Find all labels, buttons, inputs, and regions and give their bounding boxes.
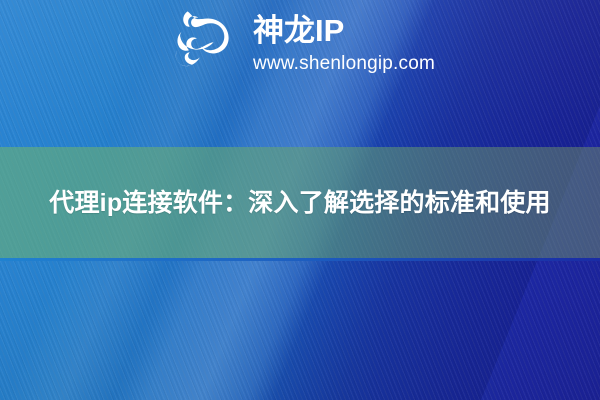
title-band: 代理ip连接软件：深入了解选择的标准和使用: [0, 147, 600, 258]
page-title: 代理ip连接软件：深入了解选择的标准和使用: [30, 183, 570, 223]
title-band-underline: [0, 258, 600, 261]
logo-lockup: 神龙IP www.shenlongip.com: [0, 6, 600, 80]
dragon-head-icon: [165, 7, 239, 79]
brand-name: 神龙IP: [253, 15, 435, 46]
website-url: www.shenlongip.com: [253, 54, 435, 73]
logo-text-block: 神龙IP www.shenlongip.com: [253, 13, 435, 73]
promo-banner: 神龙IP www.shenlongip.com 代理ip连接软件：深入了解选择的…: [0, 0, 600, 400]
